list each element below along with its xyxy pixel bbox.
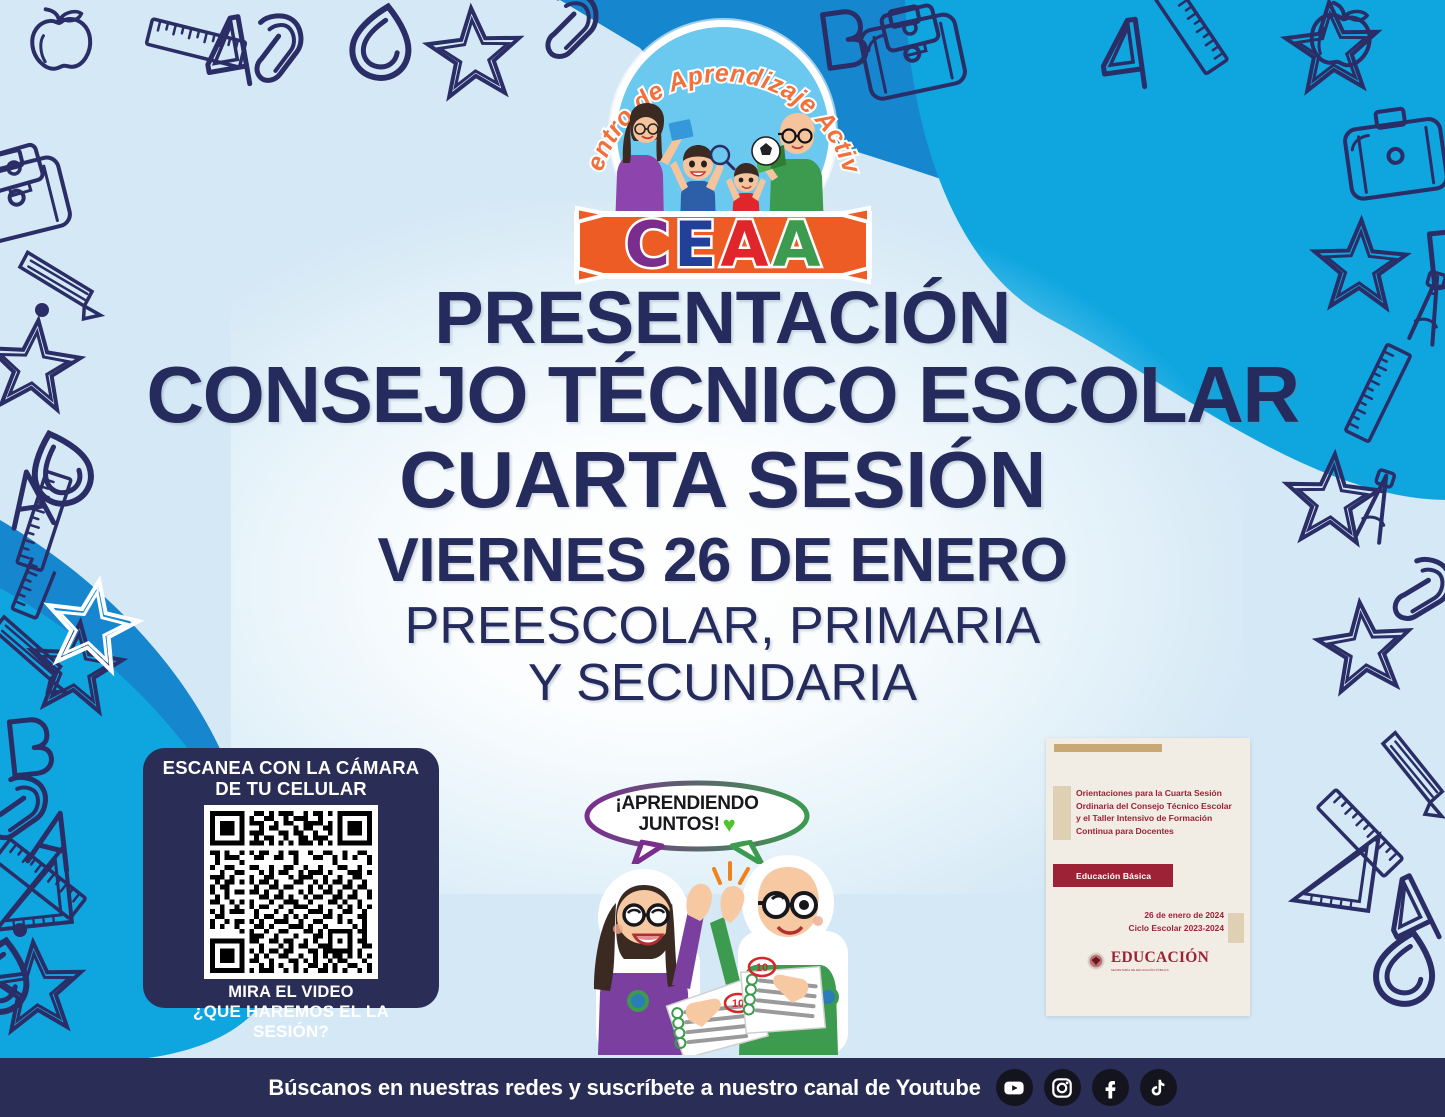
qr-top-line-2: DE TU CELULAR — [153, 778, 429, 799]
qr-bottom-line-2: ¿QUE HAREMOS EL LA SESIÓN? — [153, 1002, 429, 1042]
instagram-button[interactable] — [1044, 1069, 1081, 1106]
headline-line-niveles-2: Y SECUNDARIA — [0, 655, 1445, 712]
logo-letter-a1: A — [720, 214, 768, 276]
headline-line-presentacion: PRESENTACIÓN — [0, 282, 1445, 353]
qr-bottom-line-1: MIRA EL VIDEO — [153, 983, 429, 1002]
logo-letter-a2: A — [772, 214, 820, 276]
headline-line-sesion: CUARTA SESIÓN — [0, 438, 1445, 523]
headline-block: PRESENTACIÓN CONSEJO TÉCNICO ESCOLAR CUA… — [0, 282, 1445, 713]
doc-sep-logo: EDUCACIÓN SECRETARÍA DE EDUCACIÓN PÚBLIC… — [1046, 950, 1250, 972]
doc-side-ornament-right — [1228, 913, 1244, 943]
youtube-button[interactable] — [996, 1069, 1033, 1106]
doc-badge: Educación Básica — [1053, 864, 1173, 887]
footer-bar: Búscanos en nuestras redes y suscríbete … — [0, 1058, 1445, 1117]
speech-bubble-text: ¡APRENDIENDO JUNTOS! ♥ — [572, 780, 802, 850]
bubble-line-1: ¡APRENDIENDO — [615, 794, 758, 815]
qr-card[interactable]: ESCANEA CON LA CÁMARA DE TU CELULAR — [143, 748, 439, 1008]
youtube-icon — [1003, 1077, 1025, 1099]
doc-top-band — [1054, 744, 1162, 752]
doc-logo-subtitle: SECRETARÍA DE EDUCACIÓN PÚBLICA — [1111, 968, 1169, 972]
doc-dates: 26 de enero de 2024 Ciclo Escolar 2023-2… — [1129, 909, 1224, 935]
doc-cycle: Ciclo Escolar 2023-2024 — [1129, 922, 1224, 935]
tiktok-icon — [1147, 1077, 1169, 1099]
eagle-seal-icon — [1087, 952, 1105, 970]
facebook-icon — [1099, 1077, 1121, 1099]
instagram-icon — [1051, 1077, 1073, 1099]
poster-root: Centro de Aprendizaje Activo — [0, 0, 1445, 1117]
headline-line-fecha: VIERNES 26 DE ENERO — [0, 523, 1445, 599]
logo-letter-e: E — [674, 214, 716, 276]
bubble-line-2: JUNTOS! — [639, 815, 720, 836]
doc-badge-label: Educación Básica — [1076, 871, 1151, 881]
facebook-button[interactable] — [1092, 1069, 1129, 1106]
doc-date: 26 de enero de 2024 — [1129, 909, 1224, 922]
headline-line-consejo: CONSEJO TÉCNICO ESCOLAR — [0, 353, 1445, 438]
document-cover: Orientaciones para la Cuarta Sesión Ordi… — [1046, 738, 1250, 1016]
qr-top-line-1: ESCANEA CON LA CÁMARA — [153, 757, 429, 778]
svg-text:10: 10 — [732, 998, 744, 1010]
teachers-figures: 10 10 — [572, 855, 872, 1055]
ceaa-ribbon: C E A A — [573, 204, 873, 286]
doc-title: Orientaciones para la Cuarta Sesión Ordi… — [1076, 787, 1236, 837]
logo-letter-c: C — [625, 214, 671, 276]
qr-code-image[interactable] — [204, 805, 378, 979]
ceaa-logo: Centro de Aprendizaje Activo — [573, 8, 873, 286]
teachers-illustration: ¡APRENDIENDO JUNTOS! ♥ — [572, 780, 872, 1048]
green-heart-icon: ♥ — [723, 814, 736, 836]
doc-side-ornament-left — [1053, 786, 1071, 840]
doc-logo-name: EDUCACIÓN — [1111, 950, 1209, 966]
svg-text:10: 10 — [756, 962, 768, 974]
headline-line-niveles-1: PREESCOLAR, PRIMARIA — [0, 598, 1445, 655]
tiktok-button[interactable] — [1140, 1069, 1177, 1106]
footer-text: Búscanos en nuestras redes y suscríbete … — [268, 1075, 980, 1101]
